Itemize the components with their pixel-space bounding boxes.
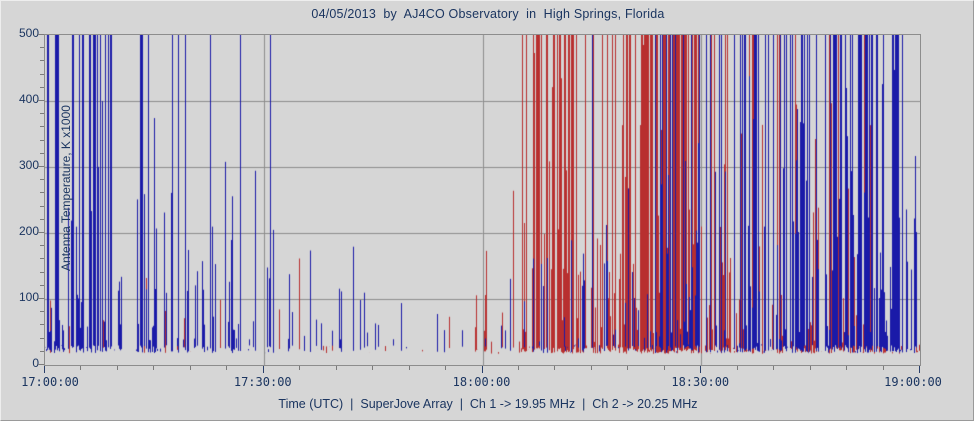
- x-tick-major: [700, 366, 701, 373]
- x-tick-minor: [773, 366, 774, 370]
- x-tick-minor: [846, 366, 847, 370]
- spectrum-trace-canvas: [45, 35, 920, 365]
- x-tick-minor: [409, 366, 410, 370]
- x-tick-label: 19:00:00: [858, 375, 968, 389]
- x-tick-major: [482, 366, 483, 373]
- x-axis-title: Time (UTC) | SuperJove Array | Ch 1 -> 1…: [1, 397, 974, 411]
- x-tick-label: 17:30:00: [208, 375, 318, 389]
- x-tick-label: 18:00:00: [427, 375, 537, 389]
- x-tick-label: 17:00:00: [0, 375, 105, 389]
- y-tick-label: 500: [0, 26, 39, 40]
- x-tick-minor: [883, 366, 884, 370]
- x-tick-minor: [226, 366, 227, 370]
- x-tick-minor: [336, 366, 337, 370]
- y-axis-title: Antenna Temperature, K x1000: [59, 43, 73, 333]
- x-tick-minor: [664, 366, 665, 370]
- x-tick-label: 18:30:00: [645, 375, 755, 389]
- plot-area[interactable]: Antenna Temperature, K x1000: [44, 34, 921, 366]
- y-tick-label: 300: [0, 158, 39, 172]
- x-tick-major: [263, 366, 264, 373]
- x-tick-minor: [445, 366, 446, 370]
- y-axis-tick-labels: 0100200300400500: [1, 34, 39, 366]
- x-tick-minor: [518, 366, 519, 370]
- x-tick-minor: [299, 366, 300, 370]
- y-tick-label: 400: [0, 92, 39, 106]
- x-tick-major: [919, 366, 920, 373]
- x-tick-minor: [80, 366, 81, 370]
- x-tick-minor: [372, 366, 373, 370]
- x-tick-major: [44, 366, 45, 373]
- y-tick-label: 100: [0, 290, 39, 304]
- x-tick-minor: [810, 366, 811, 370]
- page-title: 04/05/2013 by AJ4CO Observatory in High …: [1, 7, 974, 21]
- x-tick-minor: [554, 366, 555, 370]
- x-tick-minor: [627, 366, 628, 370]
- x-axis-ticks: [44, 366, 921, 374]
- x-tick-minor: [153, 366, 154, 370]
- x-tick-minor: [117, 366, 118, 370]
- x-tick-minor: [737, 366, 738, 370]
- y-tick-label: 200: [0, 224, 39, 238]
- radio-jove-chart-window: 04/05/2013 by AJ4CO Observatory in High …: [0, 0, 974, 421]
- x-axis-tick-labels: 17:00:0017:30:0018:00:0018:30:0019:00:00: [1, 375, 974, 391]
- x-tick-minor: [591, 366, 592, 370]
- y-tick-label: 0: [0, 356, 39, 370]
- x-tick-minor: [190, 366, 191, 370]
- y-axis-ticks: [37, 34, 44, 366]
